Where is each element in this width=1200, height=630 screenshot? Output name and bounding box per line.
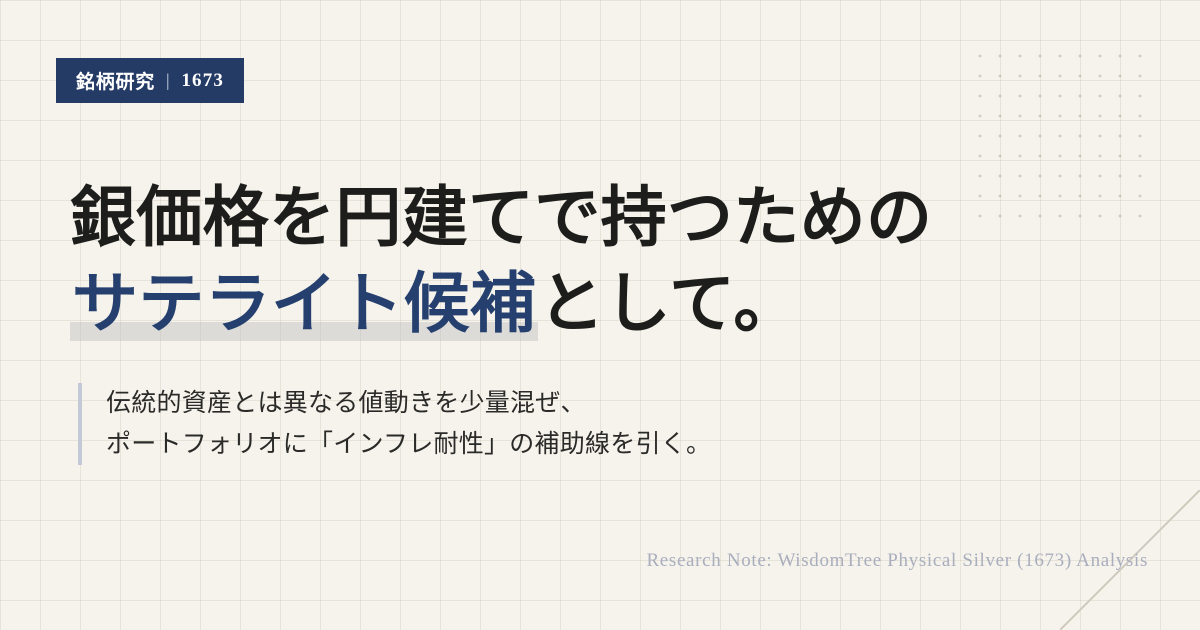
subtitle-line-1: 伝統的資産とは異なる値動きを少量混ぜ、 [106, 383, 711, 424]
headline-line-1: 銀価格を円建てで持つための [70, 176, 1130, 262]
headline-line-2-rest: として。 [538, 268, 799, 341]
badge-separator: | [166, 70, 170, 91]
subtitle-line-2: ポートフォリオに「インフレ耐性」の補助線を引く。 [106, 424, 711, 465]
subtitle-block: 伝統的資産とは異なる値動きを少量混ぜ、 ポートフォリオに「インフレ耐性」の補助線… [78, 383, 711, 465]
slide-canvas: 銘柄研究 | 1673 銀価格を円建てで持つための サテライト候補として。 伝統… [0, 0, 1200, 630]
badge-label: 銘柄研究 [76, 67, 155, 94]
badge-ticker-code: 1673 [181, 70, 224, 92]
footer-research-note: Research Note: WisdomTree Physical Silve… [646, 550, 1148, 572]
headline-line-2: サテライト候補として。 [70, 262, 1130, 348]
headline-accent-phrase: サテライト候補 [70, 268, 538, 341]
category-badge: 銘柄研究 | 1673 [56, 58, 244, 103]
page-title: 銀価格を円建てで持つための サテライト候補として。 [70, 176, 1130, 348]
